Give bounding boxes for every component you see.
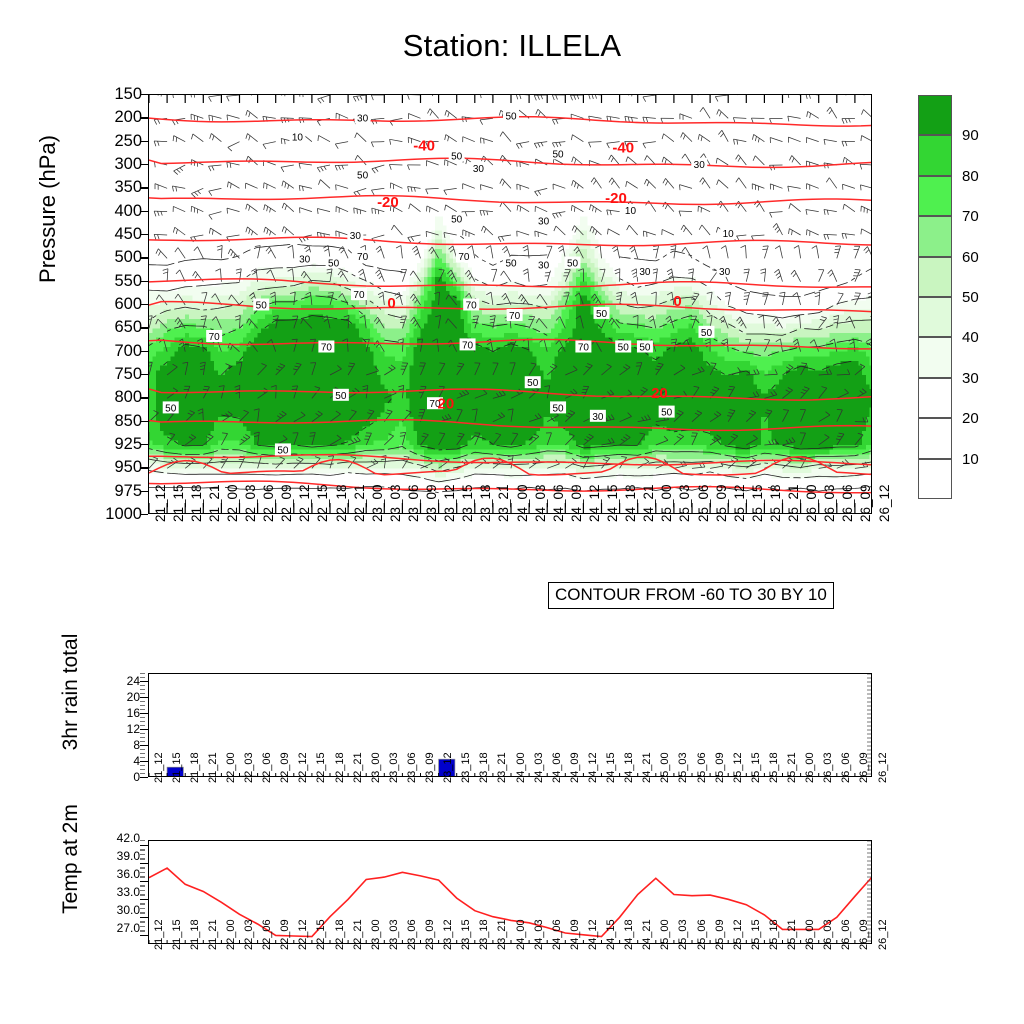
x-tick-label: 22_15 [316,919,327,950]
humidity-contour-label: 50 [328,259,340,270]
x-tick-label: 26_06 [841,752,852,783]
rain-y-tick-mark [140,729,148,730]
x-tick-label: 23_15 [461,484,475,522]
humidity-contour-label: 30 [350,231,362,242]
x-tick-label: 21_21 [208,752,219,783]
main-y-tick-label: 750 [114,366,142,383]
x-tick-label: 26_12 [878,484,892,522]
contour-svg: 3050105050303050501010303030507070503050… [149,95,872,514]
humidity-contour-label: 50 [256,301,268,312]
x-tick-label: 21_15 [172,919,183,950]
rain-y-tick-mark [140,745,148,746]
main-y-tick-label: 975 [114,483,142,500]
humidity-contour-label: 50 [451,151,463,162]
temp-x-axis-labels: 21_1221_1521_1821_2122_0022_0322_0622_09… [148,948,872,998]
temp-y-tick-label: 27.0 [117,922,140,934]
main-y-tick-mark [140,351,148,352]
x-tick-label: 25_18 [769,752,780,783]
humidity-contour-label: 30 [694,160,706,171]
x-tick-label: 22_03 [244,484,258,522]
x-tick-label: 22_21 [353,752,364,783]
temp-y-minor-tick [140,840,145,841]
temp-y-minor-tick [140,854,145,855]
rain-y-axis-ticks [140,673,148,777]
rain-svg [149,674,872,777]
x-tick-label: 23_06 [407,752,418,783]
rain-y-minor-tick [140,769,145,770]
x-tick-label: 23_21 [497,919,508,950]
x-tick-label: 23_15 [461,752,472,783]
x-tick-label: 24_12 [588,752,599,783]
x-tick-label: 25_09 [715,752,726,783]
x-tick-label: 26_03 [823,919,834,950]
rain-y-minor-tick [140,709,145,710]
x-tick-label: 26_06 [841,919,852,950]
temp-y-tick-mark [140,845,148,846]
x-tick-label: 25_21 [787,484,801,522]
main-y-tick-label: 600 [114,296,142,313]
humidity-contour-label: 50 [505,259,517,270]
x-tick-label: 25_03 [678,484,692,522]
x-tick-label: 24_00 [516,484,530,522]
humidity-contour-label: 30 [639,267,651,278]
humidity-contour-label: 10 [723,229,735,240]
x-tick-label: 22_03 [244,752,255,783]
x-tick-label: 24_09 [570,752,581,783]
x-tick-label: 21_12 [154,752,165,783]
x-tick-label: 25_00 [660,919,671,950]
temp-y-minor-tick [140,903,145,904]
rain-y-minor-tick [140,701,145,702]
rain-y-minor-tick [140,753,145,754]
temp-y-minor-tick [140,885,145,886]
humidity-contour-label: 70 [321,343,333,354]
colorbar-label: 30 [962,371,979,386]
main-y-tick-mark [140,281,148,282]
rain-y-tick-label: 4 [133,755,140,767]
main-y-tick-mark [140,444,148,445]
x-tick-label: 24_09 [570,484,584,522]
x-tick-label: 21_15 [172,484,186,522]
main-y-axis-ticks [140,94,148,514]
x-tick-label: 26_03 [823,752,834,783]
main-y-tick-mark [140,211,148,212]
x-tick-label: 25_03 [678,919,689,950]
colorbar-label: 60 [962,250,979,265]
rain-y-minor-tick [140,689,145,690]
x-tick-label: 24_12 [588,919,599,950]
x-tick-label: 22_18 [335,919,346,950]
main-y-tick-label: 300 [114,156,142,173]
humidity-contour-label: 30 [473,164,485,175]
rain-y-tick-label: 12 [127,723,140,735]
x-tick-label: 25_09 [715,484,729,522]
x-tick-label: 23_03 [389,752,400,783]
x-tick-label: 22_09 [280,752,291,783]
humidity-contour-label: 30 [299,254,311,265]
x-tick-label: 22_12 [298,484,312,522]
rain-y-minor-tick [140,741,145,742]
x-tick-label: 23_18 [479,919,490,950]
x-tick-label: 24_15 [606,752,617,783]
humidity-contour-label: 70 [209,332,221,343]
colorbar-label: 40 [962,330,979,345]
temperature-contour-label: 0 [387,295,395,312]
main-y-tick-mark [140,141,148,142]
colorbar-label: 50 [962,290,979,305]
rain-y-minor-tick [140,677,145,678]
colorbar-swatch [918,337,952,377]
humidity-contour-label: 50 [567,259,579,270]
x-tick-label: 25_09 [715,919,726,950]
humidity-contour-label: 50 [639,343,651,354]
humidity-contour-label: 50 [552,149,564,160]
x-tick-label: 24_18 [624,752,635,783]
x-tick-label: 22_00 [226,752,237,783]
colorbar-label: 90 [962,128,979,143]
colorbar-swatch [918,95,952,135]
main-y-tick-mark [140,491,148,492]
main-y-tick-label: 400 [114,203,142,220]
rain-y-minor-tick [140,685,145,686]
temp-svg [149,841,872,944]
main-y-tick-label: 800 [114,389,142,406]
humidity-contour-label: 50 [505,112,517,123]
rain-y-tick-label: 20 [127,691,140,703]
x-tick-label: 26_00 [805,484,819,522]
x-tick-label: 24_00 [516,919,527,950]
x-tick-label: 21_12 [154,484,168,522]
rain-y-minor-tick [140,733,145,734]
rain-y-tick-label: 8 [133,739,140,751]
colorbar-label: 70 [962,209,979,224]
colorbar-label: 10 [962,452,979,467]
main-y-tick-mark [140,304,148,305]
x-tick-label: 25_18 [769,484,783,522]
x-tick-label: 22_21 [353,919,364,950]
humidity-contour-label: 70 [462,340,474,351]
humidity-contour-label: 50 [527,378,539,389]
main-y-tick-mark [140,421,148,422]
x-tick-label: 22_18 [335,484,349,522]
temperature-contour-label: -40 [612,140,634,157]
main-y-tick-label: 550 [114,273,142,290]
x-tick-label: 25_06 [697,919,708,950]
x-tick-label: 22_15 [316,484,330,522]
colorbar-label: 80 [962,169,979,184]
temp-y-tick-label: 36.0 [117,868,140,880]
x-tick-label: 26_09 [859,919,870,950]
rain-y-minor-tick [140,721,145,722]
x-tick-label: 23_21 [497,752,508,783]
temp-y-axis-ticks [140,840,148,944]
temp-y-tick-label: 30.0 [117,904,140,916]
x-tick-label: 24_06 [552,484,566,522]
x-tick-label: 26_00 [805,752,816,783]
time-height-contour-plot[interactable]: 3050105050303050501010303030507070503050… [148,94,872,514]
x-tick-label: 22_00 [226,484,240,522]
x-tick-label: 24_00 [516,752,527,783]
temperature-line [149,868,872,937]
humidity-colorbar: 908070605040302010 [918,95,952,499]
x-tick-label: 23_00 [371,919,382,950]
x-tick-label: 24_18 [624,484,638,522]
humidity-contour-label: 10 [625,206,637,217]
x-tick-label: 25_00 [660,484,674,522]
colorbar-swatch [918,216,952,256]
colorbar-swatch [918,418,952,458]
x-tick-label: 21_12 [154,919,165,950]
x-tick-label: 24_06 [552,919,563,950]
rain-y-minor-tick [140,757,145,758]
rain-y-tick-label: 16 [127,707,140,719]
rain-y-minor-tick [140,765,145,766]
rain-y-tick-mark [140,713,148,714]
rain-y-tick-label: 24 [127,675,140,687]
temp-y-minor-tick [140,872,145,873]
x-tick-label: 26_09 [859,752,870,783]
x-tick-label: 24_03 [534,484,548,522]
x-tick-label: 24_15 [606,919,617,950]
humidity-contour-label: 30 [592,412,604,423]
x-tick-label: 26_09 [859,484,873,522]
temp-y-minor-tick [140,890,145,891]
x-tick-label: 25_15 [751,484,765,522]
x-tick-label: 21_18 [190,752,201,783]
humidity-contour-label: 50 [335,391,347,402]
x-tick-label: 22_15 [316,752,327,783]
x-tick-label: 23_06 [407,484,421,522]
colorbar-swatch [918,257,952,297]
rain-y-minor-tick [140,717,145,718]
rain-y-tick-mark [140,697,148,698]
x-tick-label: 23_09 [425,752,436,783]
temp-y-minor-tick [140,921,145,922]
humidity-contour-label: 30 [719,267,731,278]
main-y-tick-label: 850 [114,413,142,430]
x-tick-label: 21_18 [190,919,201,950]
x-tick-label: 24_15 [606,484,620,522]
x-tick-label: 26_03 [823,484,837,522]
temp-y-tick-label: 33.0 [117,886,140,898]
colorbar-swatch [918,176,952,216]
humidity-contour-label: 70 [353,290,365,301]
x-tick-label: 24_03 [534,919,545,950]
humidity-contour-label: 70 [458,252,470,263]
rain-y-tick-mark [140,681,148,682]
rain-y-minor-tick [140,693,145,694]
temp-y-minor-tick [140,930,145,931]
humidity-contour-label: 50 [357,170,369,181]
x-tick-label: 25_12 [733,919,744,950]
temp-y-minor-tick [140,876,145,877]
main-y-tick-mark [140,94,148,95]
main-y-tick-mark [140,234,148,235]
x-tick-label: 25_15 [751,752,762,783]
humidity-contour-label: 70 [466,301,478,312]
rain-y-tick-mark [140,761,148,762]
rain-y-minor-tick [140,773,145,774]
x-tick-label: 23_18 [479,752,490,783]
temp-y-tick-label: 39.0 [117,850,140,862]
rain-y-minor-tick [140,725,145,726]
rain-bar-chart[interactable] [148,673,872,777]
main-y-tick-label: 650 [114,319,142,336]
humidity-contour-label: 70 [509,311,521,322]
colorbar-swatch [918,459,952,499]
x-tick-label: 22_06 [262,919,273,950]
temp-y-minor-tick [140,894,145,895]
x-tick-label: 25_06 [697,484,711,522]
x-tick-label: 26_00 [805,919,816,950]
temp-y-tick-mark [140,863,148,864]
x-tick-label: 22_09 [280,919,291,950]
main-y-tick-label: 150 [114,86,142,103]
temp-y-minor-tick [140,908,145,909]
x-tick-label: 24_21 [642,919,653,950]
x-tick-label: 25_12 [733,752,744,783]
temperature-line-chart[interactable] [148,840,872,944]
main-y-tick-label: 450 [114,226,142,243]
x-tick-label: 23_00 [371,484,385,522]
x-tick-label: 22_06 [262,484,276,522]
temp-y-minor-tick [140,849,145,850]
x-tick-label: 26_12 [878,919,889,950]
main-y-tick-mark [140,397,148,398]
temp-y-tick-label: 42.0 [117,832,140,844]
x-tick-label: 26_06 [841,484,855,522]
x-tick-label: 22_18 [335,752,346,783]
rain-y-minor-tick [140,749,145,750]
x-tick-label: 23_18 [479,484,493,522]
x-tick-label: 26_12 [878,752,889,783]
x-tick-label: 21_21 [208,484,222,522]
temp-y-tick-mark [140,935,148,936]
temp-y-tick-mark [140,917,148,918]
humidity-contour-label: 50 [165,403,177,414]
x-tick-label: 22_09 [280,484,294,522]
x-tick-label: 23_21 [497,484,511,522]
main-y-tick-mark [140,117,148,118]
main-x-axis-labels: 21_1221_1521_1821_2122_0022_0322_0622_09… [148,520,872,584]
main-y-tick-label: 500 [114,249,142,266]
x-tick-label: 25_18 [769,919,780,950]
x-tick-label: 21_21 [208,919,219,950]
x-tick-label: 22_12 [298,919,309,950]
humidity-contour-label: 30 [538,261,550,272]
main-y-tick-mark [140,327,148,328]
contour-range-note: CONTOUR FROM -60 TO 30 BY 10 [548,582,834,609]
x-tick-label: 23_03 [389,919,400,950]
x-tick-label: 25_12 [733,484,747,522]
x-tick-label: 23_09 [425,484,439,522]
colorbar-swatch [918,378,952,418]
x-tick-label: 25_03 [678,752,689,783]
temp-y-minor-tick [140,926,145,927]
x-tick-label: 23_00 [371,752,382,783]
main-y-tick-label: 250 [114,133,142,150]
x-tick-label: 24_21 [642,484,656,522]
main-y-tick-label: 350 [114,179,142,196]
rain-y-axis-labels: 04812162024 [84,666,140,784]
rain-y-minor-tick [140,737,145,738]
x-tick-label: 23_12 [443,752,454,783]
temperature-contour-label: 20 [651,385,668,402]
x-tick-label: 25_15 [751,919,762,950]
main-y-tick-mark [140,187,148,188]
x-tick-label: 24_09 [570,919,581,950]
x-tick-label: 25_21 [787,919,798,950]
temp-y-minor-tick [140,867,145,868]
main-y-tick-mark [140,374,148,375]
x-tick-label: 22_12 [298,752,309,783]
rain-x-axis-labels: 21_1221_1521_1821_2122_0022_0322_0622_09… [148,781,872,831]
humidity-contour-label: 50 [552,403,564,414]
x-tick-label: 24_12 [588,484,602,522]
x-tick-label: 23_06 [407,919,418,950]
x-tick-label: 25_06 [697,752,708,783]
humidity-contour-label: 10 [292,133,304,144]
x-tick-label: 21_15 [172,752,183,783]
colorbar-swatch [918,297,952,337]
humidity-contour-label: 50 [596,309,608,320]
temperature-contour-label: 0 [673,293,681,310]
rain-y-minor-tick [140,673,145,674]
x-tick-label: 25_21 [787,752,798,783]
main-y-axis-labels: 1502002503003504004505005506006507007508… [30,94,142,514]
x-tick-label: 23_09 [425,919,436,950]
humidity-contour-label: 50 [277,445,289,456]
main-y-tick-mark [140,164,148,165]
humidity-contour-label: 50 [451,214,463,225]
main-y-tick-mark [140,257,148,258]
x-tick-label: 23_15 [461,919,472,950]
rain-y-tick-mark [140,777,148,778]
colorbar-swatch [918,135,952,175]
main-y-tick-mark [140,467,148,468]
humidity-contour-label: 70 [578,343,590,354]
main-y-tick-label: 700 [114,343,142,360]
x-tick-label: 22_21 [353,484,367,522]
x-tick-label: 21_18 [190,484,204,522]
humidity-contour-label: 50 [701,328,713,339]
main-y-tick-label: 1000 [105,506,142,523]
temp-y-tick-mark [140,899,148,900]
humidity-contour-label: 30 [357,114,369,125]
x-tick-label: 23_12 [443,484,457,522]
temp-y-minor-tick [140,858,145,859]
temp-y-axis-labels: 27.030.033.036.039.042.0 [74,833,140,951]
temperature-contour-label: 20 [437,396,454,413]
colorbar-label: 20 [962,411,979,426]
x-tick-label: 23_03 [389,484,403,522]
x-tick-label: 24_03 [534,752,545,783]
rain-y-minor-tick [140,705,145,706]
temperature-contour-label: -20 [605,190,627,207]
x-tick-label: 22_03 [244,919,255,950]
x-tick-label: 22_00 [226,919,237,950]
x-tick-label: 24_06 [552,752,563,783]
page-title: Station: ILLELA [0,28,1024,64]
humidity-contour-label: 50 [661,408,673,419]
x-tick-label: 23_12 [443,919,454,950]
temperature-contour-label: -20 [377,194,399,211]
main-y-tick-label: 950 [114,459,142,476]
main-y-tick-label: 200 [114,109,142,126]
humidity-contour-label: 70 [357,252,369,263]
x-tick-label: 22_06 [262,752,273,783]
temperature-contour-label: -40 [413,137,435,154]
